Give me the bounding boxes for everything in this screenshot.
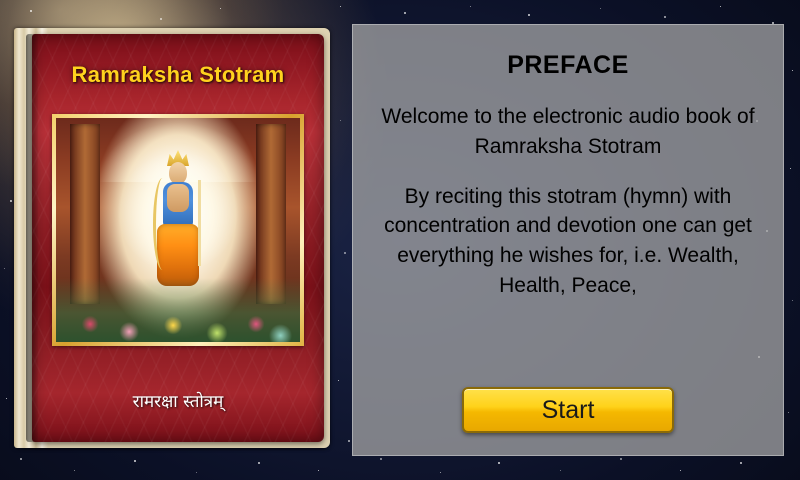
book-title: Ramraksha Stotram <box>32 62 324 88</box>
preface-text: Welcome to the electronic audio book of … <box>367 102 769 342</box>
pillar-left <box>70 124 100 304</box>
flower-garland <box>56 278 300 342</box>
book-front-cover: Ramraksha Stotram <box>32 34 324 442</box>
pillar-right <box>256 124 286 304</box>
book-spine <box>26 34 38 442</box>
start-button[interactable]: Start <box>462 387 674 433</box>
book-cover-image: Ramraksha Stotram <box>14 28 334 452</box>
deity-illustration <box>56 118 300 342</box>
bow <box>153 178 172 270</box>
arrow <box>198 180 201 266</box>
page-title: PREFACE <box>353 51 783 80</box>
preface-panel: PREFACE Welcome to the electronic audio … <box>352 24 784 456</box>
preface-paragraph-2: By reciting this stotram (hymn) with con… <box>367 182 769 301</box>
preface-paragraph-1: Welcome to the electronic audio book of … <box>367 102 769 162</box>
app-root: Ramraksha Stotram <box>0 0 800 480</box>
deity-figure <box>151 162 205 292</box>
cover-art-frame <box>52 114 304 346</box>
book-title-devanagari: रामरक्षा स्तोत्रम् <box>32 389 324 412</box>
